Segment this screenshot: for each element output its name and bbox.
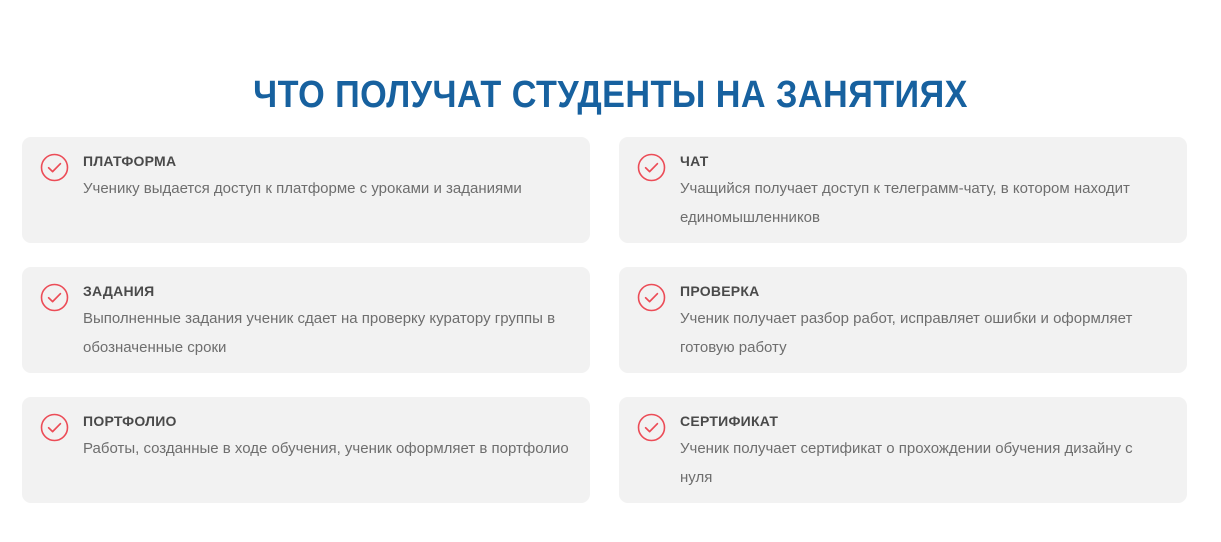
benefits-section: ЧТО ПОЛУЧАТ СТУДЕНТЫ НА ЗАНЯТИЯХ ПЛАТФОР… (0, 0, 1221, 542)
benefit-card: ПРОВЕРКА Ученик получает разбор работ, и… (619, 267, 1187, 373)
benefit-card-body: ЧАТ Учащийся получает доступ к телеграмм… (680, 152, 1169, 232)
benefit-card-title: ЗАДАНИЯ (83, 282, 572, 300)
check-circle-icon (637, 153, 666, 182)
benefit-card-title: СЕРТИФИКАТ (680, 412, 1169, 430)
check-circle-icon (637, 413, 666, 442)
benefit-card: ЧАТ Учащийся получает доступ к телеграмм… (619, 137, 1187, 243)
benefit-card: СЕРТИФИКАТ Ученик получает сертификат о … (619, 397, 1187, 503)
benefit-card-text: Выполненные задания ученик сдает на пров… (83, 304, 572, 362)
benefit-card: ПОРТФОЛИО Работы, созданные в ходе обуче… (22, 397, 590, 503)
benefit-card: ЗАДАНИЯ Выполненные задания ученик сдает… (22, 267, 590, 373)
benefit-card: ПЛАТФОРМА Ученику выдается доступ к плат… (22, 137, 590, 243)
check-circle-icon (40, 153, 69, 182)
benefit-card-body: ПРОВЕРКА Ученик получает разбор работ, и… (680, 282, 1169, 362)
benefit-card-title: ЧАТ (680, 152, 1169, 170)
benefit-card-body: СЕРТИФИКАТ Ученик получает сертификат о … (680, 412, 1169, 492)
benefit-card-text: Учащийся получает доступ к телеграмм-чат… (680, 174, 1169, 232)
check-circle-icon (40, 283, 69, 312)
benefit-card-title: ПРОВЕРКА (680, 282, 1169, 300)
page-title: ЧТО ПОЛУЧАТ СТУДЕНТЫ НА ЗАНЯТИЯХ (61, 72, 1160, 118)
benefit-card-body: ПОРТФОЛИО Работы, созданные в ходе обуче… (83, 412, 572, 463)
benefits-card-grid: ПЛАТФОРМА Ученику выдается доступ к плат… (22, 137, 1187, 503)
benefit-card-text: Ученик получает сертификат о прохождении… (680, 434, 1169, 492)
benefit-card-title: ПЛАТФОРМА (83, 152, 572, 170)
benefit-card-title: ПОРТФОЛИО (83, 412, 572, 430)
benefit-card-text: Работы, созданные в ходе обучения, учени… (83, 434, 572, 463)
benefit-card-body: ПЛАТФОРМА Ученику выдается доступ к плат… (83, 152, 572, 203)
benefit-card-text: Ученику выдается доступ к платформе с ур… (83, 174, 572, 203)
check-circle-icon (40, 413, 69, 442)
check-circle-icon (637, 283, 666, 312)
benefit-card-text: Ученик получает разбор работ, исправляет… (680, 304, 1169, 362)
benefit-card-body: ЗАДАНИЯ Выполненные задания ученик сдает… (83, 282, 572, 362)
